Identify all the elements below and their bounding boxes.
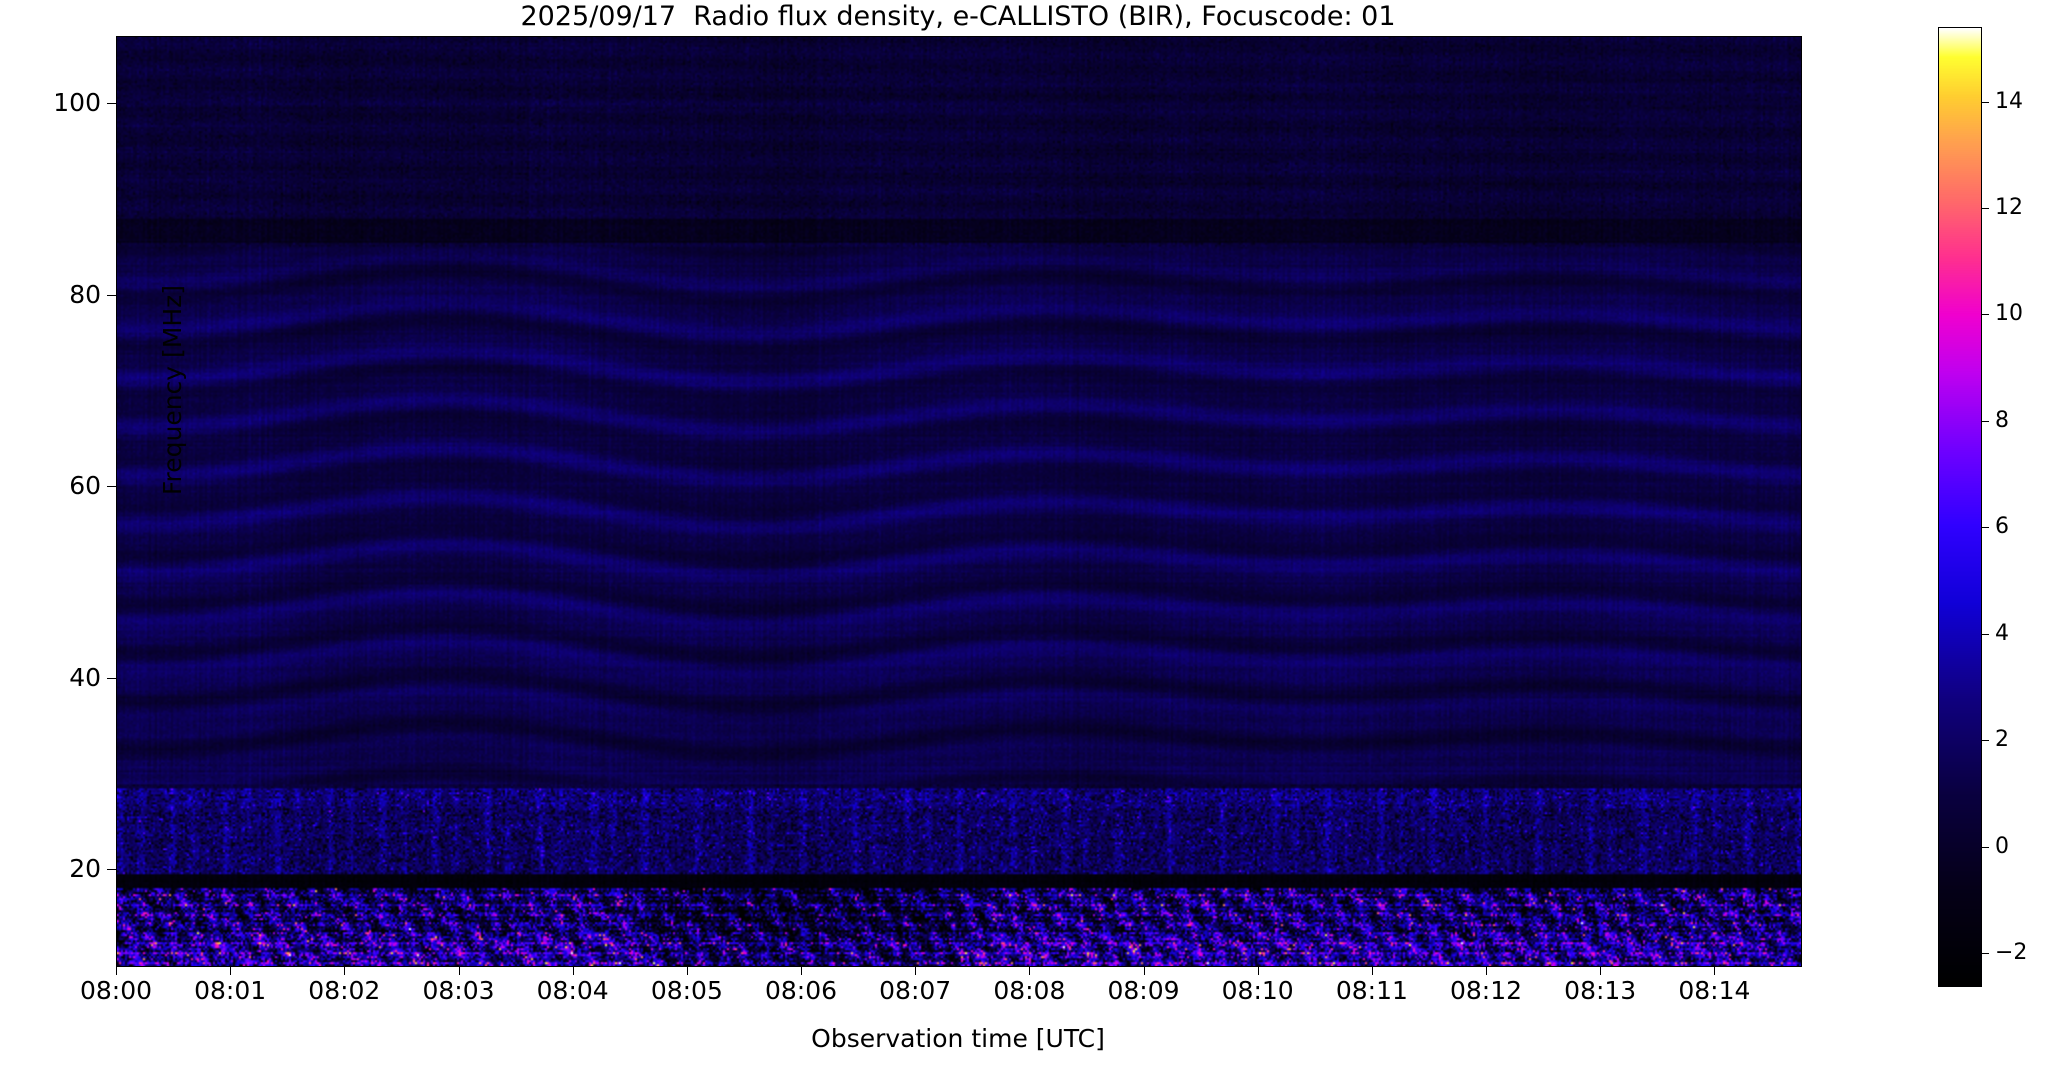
y-tick-label: 80 xyxy=(11,282,101,307)
colorbar-tick-mark xyxy=(1981,102,1989,103)
figure-canvas: 2025/09/17 Radio flux density, e-CALLIST… xyxy=(0,0,2066,1067)
colorbar-tick-label: 4 xyxy=(1995,623,2055,645)
x-axis-label: Observation time [UTC] xyxy=(116,1024,1800,1053)
colorbar-tick-label: 0 xyxy=(1995,836,2055,858)
x-tick-mark xyxy=(1144,966,1145,975)
x-tick-mark xyxy=(459,966,460,975)
y-tick-mark xyxy=(107,678,116,679)
x-tick-mark xyxy=(116,966,117,975)
x-tick-mark xyxy=(915,966,916,975)
y-tick-label: 40 xyxy=(11,665,101,690)
x-tick-mark xyxy=(1486,966,1487,975)
colorbar-tick-mark xyxy=(1981,634,1989,635)
x-tick-mark xyxy=(801,966,802,975)
colorbar-tick-mark xyxy=(1981,953,1989,954)
colorbar-tick-mark xyxy=(1981,847,1989,848)
y-tick-label: 60 xyxy=(11,473,101,498)
x-tick-mark xyxy=(1714,966,1715,975)
colorbar-gradient xyxy=(1939,28,1981,986)
colorbar-tick-label: 6 xyxy=(1995,516,2055,538)
colorbar-tick-mark xyxy=(1981,740,1989,741)
y-tick-mark xyxy=(107,103,116,104)
x-tick-mark xyxy=(1258,966,1259,975)
x-tick-mark xyxy=(1372,966,1373,975)
y-tick-mark xyxy=(107,869,116,870)
x-tick-mark xyxy=(1600,966,1601,975)
colorbar-tick-label: 10 xyxy=(1995,303,2055,325)
colorbar-tick-label: 14 xyxy=(1995,91,2055,113)
y-tick-label: 100 xyxy=(11,90,101,115)
colorbar-tick-mark xyxy=(1981,208,1989,209)
x-tick-mark xyxy=(573,966,574,975)
colorbar-tick-label: 2 xyxy=(1995,729,2055,751)
y-tick-mark xyxy=(107,295,116,296)
y-tick-mark xyxy=(107,486,116,487)
page-title: 2025/09/17 Radio flux density, e-CALLIST… xyxy=(116,2,1800,32)
y-axis-label: Frequency [MHz] xyxy=(158,180,187,600)
colorbar-tick-label: −2 xyxy=(1995,942,2055,964)
colorbar-tick-mark xyxy=(1981,421,1989,422)
x-tick-mark xyxy=(687,966,688,975)
colorbar-tick-label: 8 xyxy=(1995,410,2055,432)
colorbar-tick-mark xyxy=(1981,314,1989,315)
spectrogram-image xyxy=(117,37,1801,966)
colorbar-tick-label: 12 xyxy=(1995,197,2055,219)
x-tick-mark xyxy=(230,966,231,975)
colorbar[interactable] xyxy=(1938,27,1982,987)
colorbar-tick-mark xyxy=(1981,527,1989,528)
spectrogram-axes[interactable] xyxy=(116,36,1802,967)
x-tick-mark xyxy=(344,966,345,975)
x-tick-label: 08:14 xyxy=(1634,978,1794,1003)
y-tick-label: 20 xyxy=(11,856,101,881)
x-tick-mark xyxy=(1029,966,1030,975)
